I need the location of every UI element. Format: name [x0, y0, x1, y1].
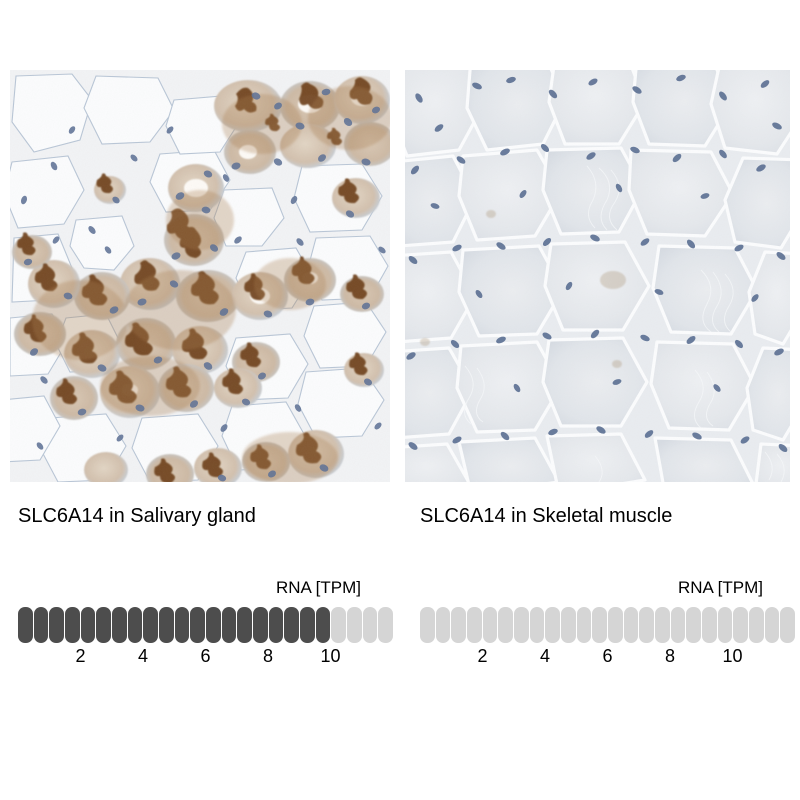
rna-bar-segment [436, 607, 451, 643]
rna-bar-segment [300, 607, 315, 643]
rna-bar-segment [363, 607, 378, 643]
rna-axis-tick-label: 4 [540, 646, 550, 667]
rna-bar-segment [331, 607, 346, 643]
rna-bar-segment [269, 607, 284, 643]
rna-axis-tick-label: 10 [320, 646, 340, 667]
micrograph-panel-skeletal-muscle[interactable] [405, 70, 790, 482]
rna-bar-segment [81, 607, 96, 643]
rna-bar-segment [159, 607, 174, 643]
rna-bar-segment [65, 607, 80, 643]
rna-bar-segment [561, 607, 576, 643]
rna-axis-tick-label: 4 [138, 646, 148, 667]
rna-bar-segment [545, 607, 560, 643]
rna-bar-segment [237, 607, 252, 643]
rna-bar-segment [718, 607, 733, 643]
rna-bar-segment [96, 607, 111, 643]
rna-bar-segment [765, 607, 780, 643]
rna-bar-segment [514, 607, 529, 643]
rna-bar-segment [222, 607, 237, 643]
rna-bar-segment [18, 607, 33, 643]
rna-axis-tick-label: 2 [477, 646, 487, 667]
rna-bar-segment [284, 607, 299, 643]
rna-bar-segment [702, 607, 717, 643]
rna-bar-segment [206, 607, 221, 643]
rna-bar-segment [347, 607, 362, 643]
rna-bar-segment [749, 607, 764, 643]
rna-axis-tick-label: 6 [200, 646, 210, 667]
rna-bar-salivary-gland[interactable] [18, 607, 393, 643]
rna-bar-segment [498, 607, 513, 643]
rna-bar-segment [467, 607, 482, 643]
rna-axis-tick-label: 6 [602, 646, 612, 667]
rna-axis-tick-label: 8 [263, 646, 273, 667]
rna-bar-segment [112, 607, 127, 643]
rna-axis-ticks-salivary-gland: 246810 [18, 646, 393, 670]
rna-bar-segment [671, 607, 686, 643]
rna-bar-segment [592, 607, 607, 643]
page-root: SLC6A14 in Salivary gland SLC6A14 in Ske… [0, 0, 800, 800]
caption-salivary-gland: SLC6A14 in Salivary gland [18, 505, 256, 528]
rna-bar-segment [378, 607, 393, 643]
micrograph-panel-salivary-gland[interactable] [10, 70, 390, 482]
rna-bar-segment [733, 607, 748, 643]
rna-axis-ticks-skeletal-muscle: 246810 [420, 646, 795, 670]
rna-bar-skeletal-muscle[interactable] [420, 607, 795, 643]
rna-tpm-label-salivary-gland: RNA [TPM] [276, 578, 361, 598]
rna-axis-tick-label: 10 [722, 646, 742, 667]
rna-bar-segment [577, 607, 592, 643]
skeletal-muscle-image [405, 70, 790, 482]
rna-bar-segment [34, 607, 49, 643]
rna-bar-segment [624, 607, 639, 643]
rna-tpm-label-skeletal-muscle: RNA [TPM] [678, 578, 763, 598]
rna-bar-segment [420, 607, 435, 643]
rna-bar-segment [190, 607, 205, 643]
rna-bar-segment [253, 607, 268, 643]
rna-bar-segment [483, 607, 498, 643]
rna-bar-segment [639, 607, 654, 643]
rna-axis-tick-label: 8 [665, 646, 675, 667]
rna-bar-segment [128, 607, 143, 643]
rna-bar-segment [143, 607, 158, 643]
salivary-gland-image [10, 70, 390, 482]
rna-bar-segment [316, 607, 331, 643]
rna-bar-segment [655, 607, 670, 643]
rna-bar-segment [49, 607, 64, 643]
rna-axis-tick-label: 2 [75, 646, 85, 667]
rna-bar-segment [175, 607, 190, 643]
rna-bar-segment [530, 607, 545, 643]
rna-bar-segment [686, 607, 701, 643]
rna-bar-segment [608, 607, 623, 643]
rna-bar-segment [451, 607, 466, 643]
caption-skeletal-muscle: SLC6A14 in Skeletal muscle [420, 505, 672, 528]
rna-bar-segment [780, 607, 795, 643]
